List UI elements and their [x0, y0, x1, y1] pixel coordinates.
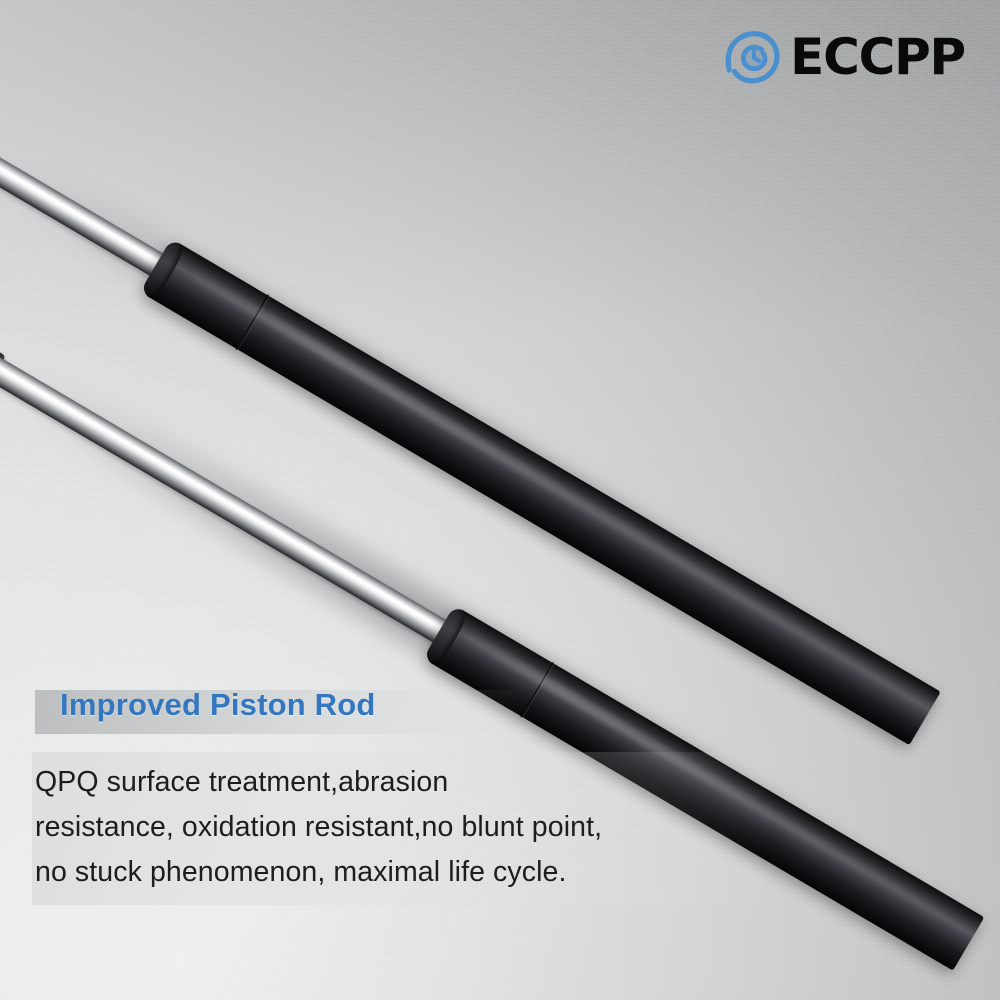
feature-heading: Improved Piston Rod	[35, 690, 525, 734]
product-image-canvas: ECCPP Improved Piston Rod QPQ surface tr…	[0, 0, 1000, 1000]
description-line-2: resistance, oxidation resistant,no blunt…	[35, 805, 765, 850]
brand-logo: ECCPP	[722, 26, 965, 88]
eccpp-spiral-hex-logo-icon	[722, 26, 784, 88]
description-line-1: QPQ surface treatment,abrasion	[35, 760, 765, 805]
feature-heading-text: Improved Piston Rod	[60, 687, 376, 723]
caption-block: Improved Piston Rod QPQ surface treatmen…	[0, 690, 1000, 895]
brand-wordmark: ECCPP	[790, 32, 965, 82]
description-line-3: no stuck phenomenon, maximal life cycle.	[35, 850, 765, 895]
feature-description: QPQ surface treatment,abrasion resistanc…	[35, 760, 765, 895]
